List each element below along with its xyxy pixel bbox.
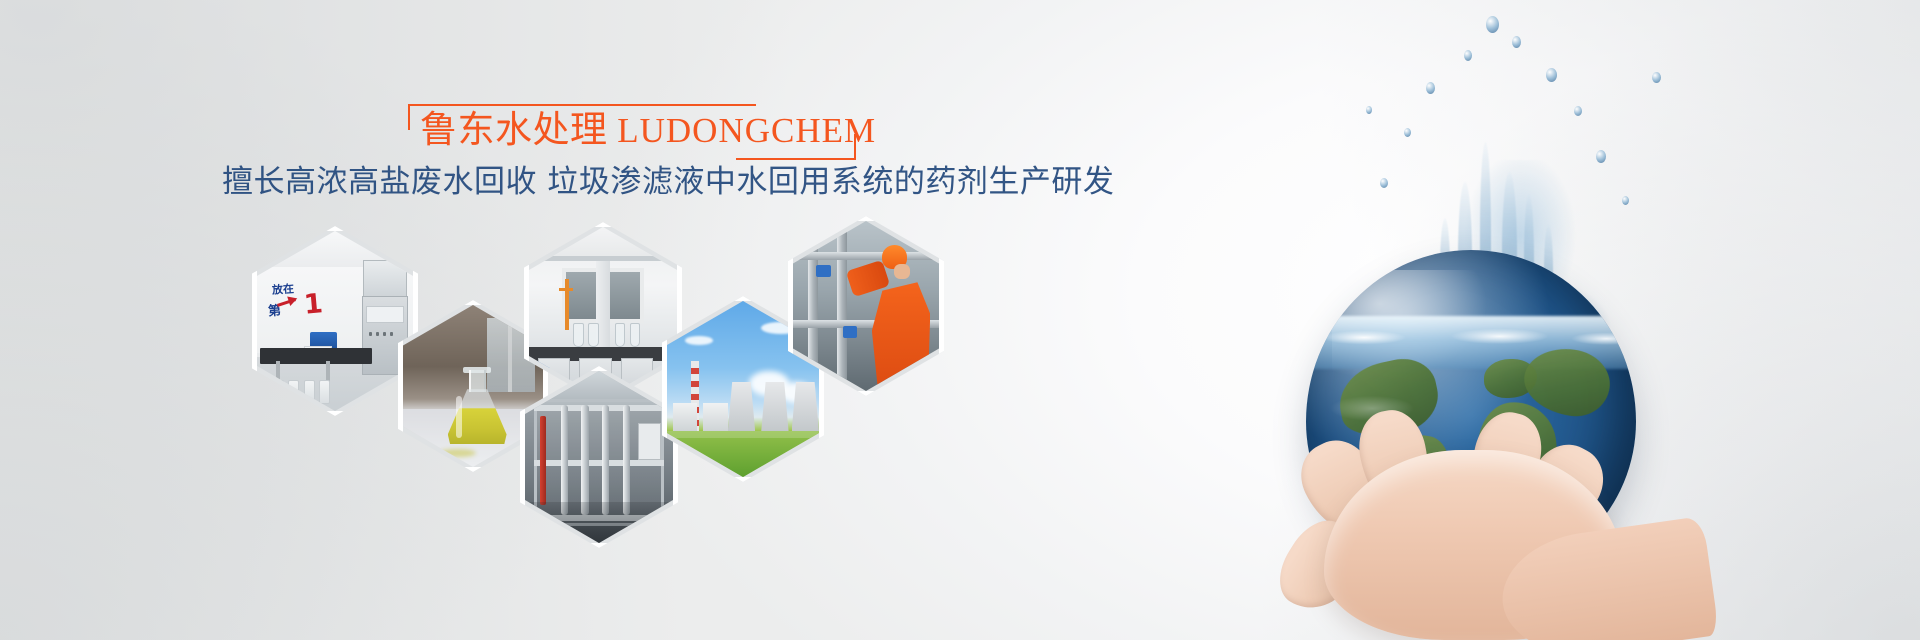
slogan-number: 1 <box>303 290 324 319</box>
photo-membrane-ro-skid <box>525 371 673 543</box>
cupped-hands <box>1266 390 1686 640</box>
hero-banner: 鲁东水处理 LUDONGCHEM 擅长高浓高盐废水回收 垃圾渗滤液中水回用系统的… <box>0 0 1920 640</box>
photo-laboratory-room: 放在 第 1 <box>257 231 413 411</box>
hexagon-photo-cluster: 放在 第 1 <box>0 0 1000 640</box>
photo-plant-worker <box>793 221 939 391</box>
hex-tile-laboratory-room[interactable]: 放在 第 1 <box>252 226 418 416</box>
globe-and-hands <box>1266 250 1686 640</box>
water-globe-scene <box>1060 0 1920 640</box>
wall-slogan: 放在 第 1 <box>268 281 330 324</box>
